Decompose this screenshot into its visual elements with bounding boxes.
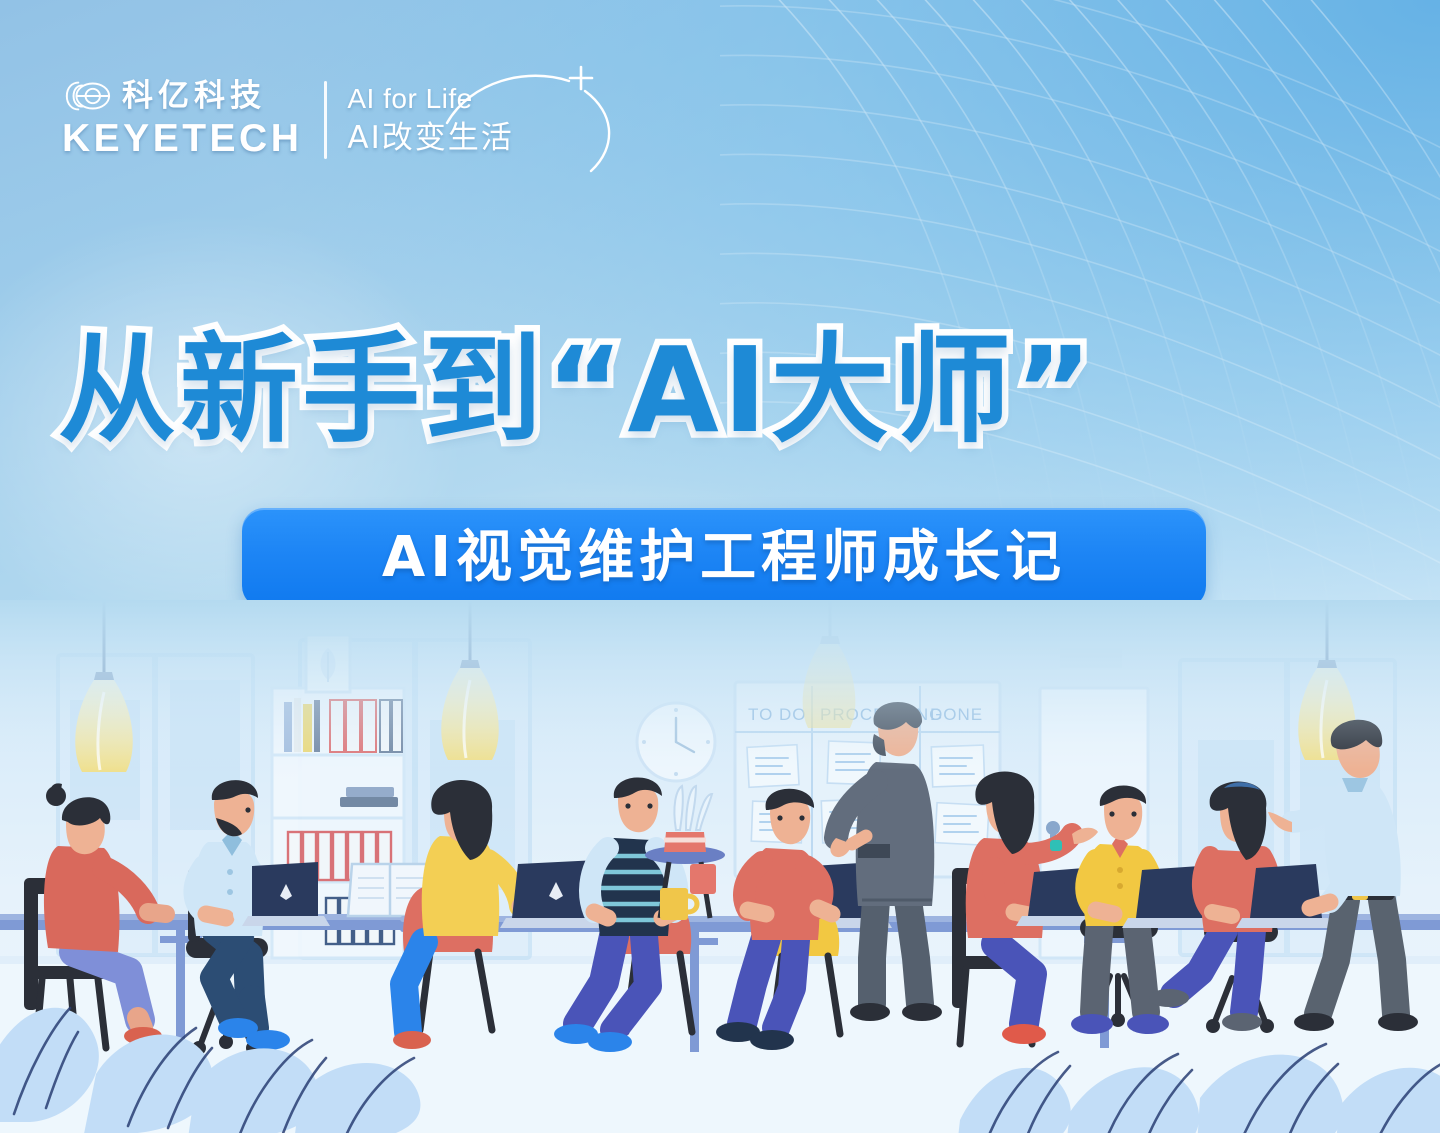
- brand-name-en: KEYETECH: [62, 118, 302, 161]
- hero-title: 从新手到“AI大师”: [58, 322, 1398, 459]
- brand-name-group: 科亿科技 KEYETECH: [62, 79, 302, 161]
- subtitle-text: AI视觉维护工程师成长记: [382, 530, 1066, 586]
- brand-tagline-group: AI for Life AI改变生活: [347, 83, 513, 156]
- poster-canvas: 科亿科技 KEYETECH AI for Life AI改变生活 从新手到“AI…: [0, 0, 1440, 1133]
- brand-name-cn: 科亿科技: [122, 81, 266, 112]
- brand-tagline-en: AI for Life: [347, 83, 513, 115]
- subtitle-banner-wrap: AI视觉维护工程师成长记: [242, 508, 1206, 608]
- office-team-illustration: TO DO PROCESSING DONE: [0, 600, 1440, 1133]
- brand-logo[interactable]: 科亿科技 KEYETECH AI for Life AI改变生活: [62, 72, 514, 168]
- brand-tagline-cn: AI改变生活: [347, 120, 513, 157]
- eye-globe-icon: [62, 79, 112, 113]
- subtitle-banner: AI视觉维护工程师成长记: [242, 508, 1206, 608]
- logo-divider: [324, 81, 327, 159]
